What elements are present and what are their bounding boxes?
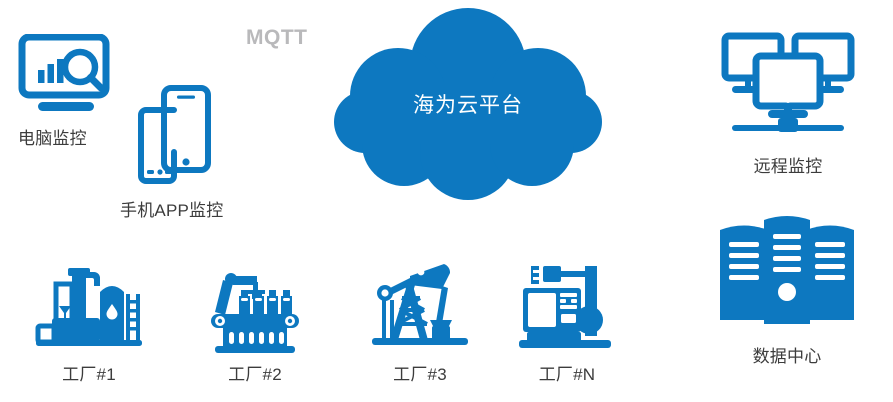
- node-factory-n-label: 工厂#N: [539, 360, 596, 385]
- node-phone-label: 手机APP监控: [120, 196, 223, 221]
- node-mobile-app-monitoring[interactable]: 手机APP监控: [120, 84, 223, 221]
- oil-pumpjack-icon: [366, 258, 474, 354]
- iot-topology-diagram: 电脑监控 手机APP监控 MQTT: [0, 0, 893, 402]
- refinery-plant-icon: [34, 262, 144, 354]
- robotic-assembly-line-icon: [201, 262, 309, 354]
- node-pc-label: 电脑监控: [18, 124, 87, 149]
- cloud-icon: [332, 4, 604, 204]
- node-datacenter-label: 数据中心: [753, 342, 822, 367]
- node-factory-1[interactable]: 工厂#1: [34, 262, 144, 385]
- mobile-phones-icon: [126, 84, 218, 188]
- node-factory-n[interactable]: 工厂#N: [517, 258, 617, 385]
- node-cloud-platform[interactable]: 海为云平台: [332, 4, 604, 204]
- node-factory-2[interactable]: 工厂#2: [201, 262, 309, 385]
- node-factory-2-label: 工厂#2: [228, 360, 282, 385]
- protocol-label-mqtt: MQTT: [246, 26, 307, 50]
- node-factory-3[interactable]: 工厂#3: [366, 258, 474, 385]
- node-remote-label: 远程监控: [754, 152, 823, 177]
- node-factory-1-label: 工厂#1: [62, 360, 116, 385]
- node-data-center[interactable]: 数据中心: [712, 212, 862, 367]
- desktop-analytics-icon: [18, 34, 114, 118]
- cnc-machine-icon: [517, 258, 617, 354]
- networked-monitors-icon: [718, 30, 858, 142]
- server-racks-icon: [712, 212, 862, 334]
- node-factory-3-label: 工厂#3: [393, 360, 447, 385]
- node-pc-monitoring[interactable]: 电脑监控: [18, 34, 114, 149]
- node-remote-monitoring[interactable]: 远程监控: [718, 30, 858, 177]
